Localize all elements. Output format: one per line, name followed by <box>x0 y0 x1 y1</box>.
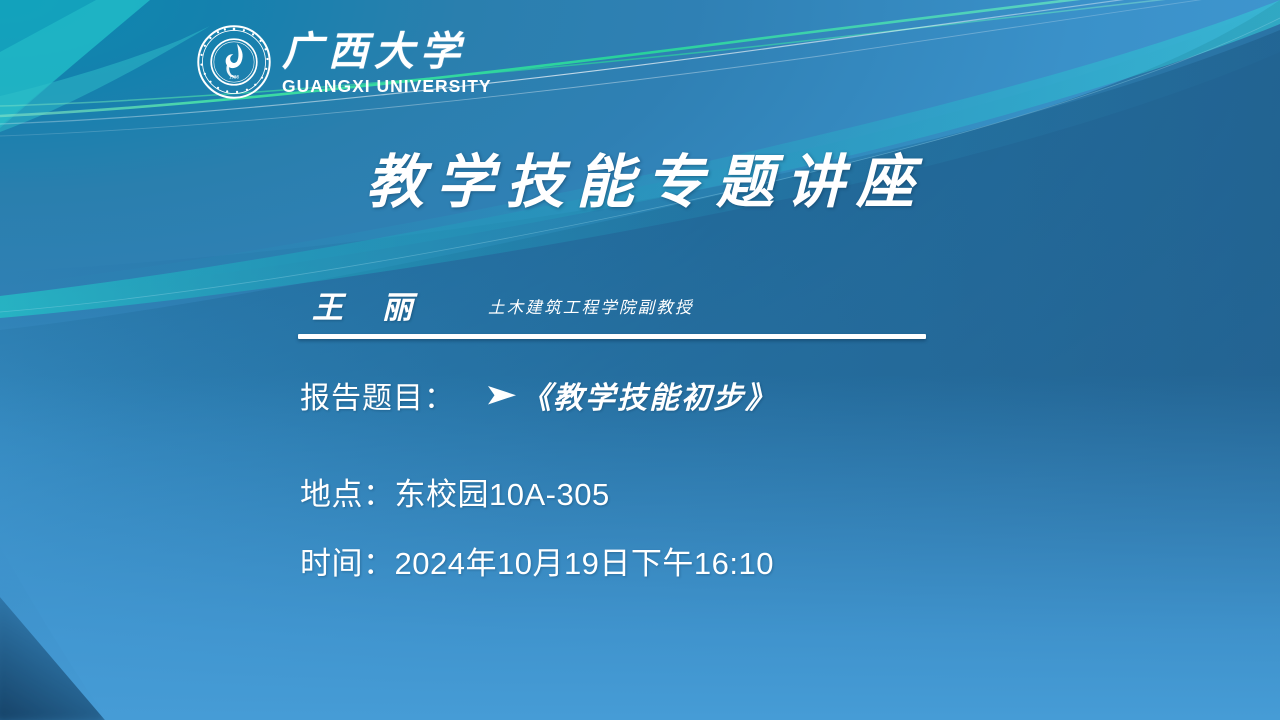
time-line: 时间：2024年10月19日下午16:10 <box>300 542 774 586</box>
presenter-name: 王 丽 <box>312 286 427 330</box>
presentation-slide: 1928 广西大学 GUANGXI UNIVERSITY 教学技能专题讲座 王 … <box>0 0 1280 720</box>
university-logo: 1928 广西大学 GUANGXI UNIVERSITY <box>196 18 446 106</box>
university-seal-icon: 1928 <box>196 24 272 100</box>
presenter-affiliation: 土木建筑工程学院副教授 <box>488 293 694 323</box>
slide-title: 教学技能专题讲座 <box>0 146 1280 218</box>
arrow-bullet-icon <box>485 378 519 420</box>
topic-text: 《教学技能初步》 <box>521 378 777 420</box>
presenter-row: 王 丽 土木建筑工程学院副教授 <box>300 286 930 334</box>
topic-line: 报告题目： 《教学技能初步》 <box>300 378 777 420</box>
logo-wordmark: 广西大学 GUANGXI UNIVERSITY <box>282 29 492 96</box>
topic-label: 报告题目： <box>300 378 455 420</box>
svg-text:1928: 1928 <box>229 75 240 80</box>
place-line: 地点：东校园10A-305 <box>300 473 610 517</box>
logo-name-en: GUANGXI UNIVERSITY <box>282 76 492 96</box>
bottom-light-overlay <box>0 0 1280 720</box>
horizontal-divider <box>298 334 926 339</box>
logo-name-cn: 广西大学 <box>282 31 492 73</box>
